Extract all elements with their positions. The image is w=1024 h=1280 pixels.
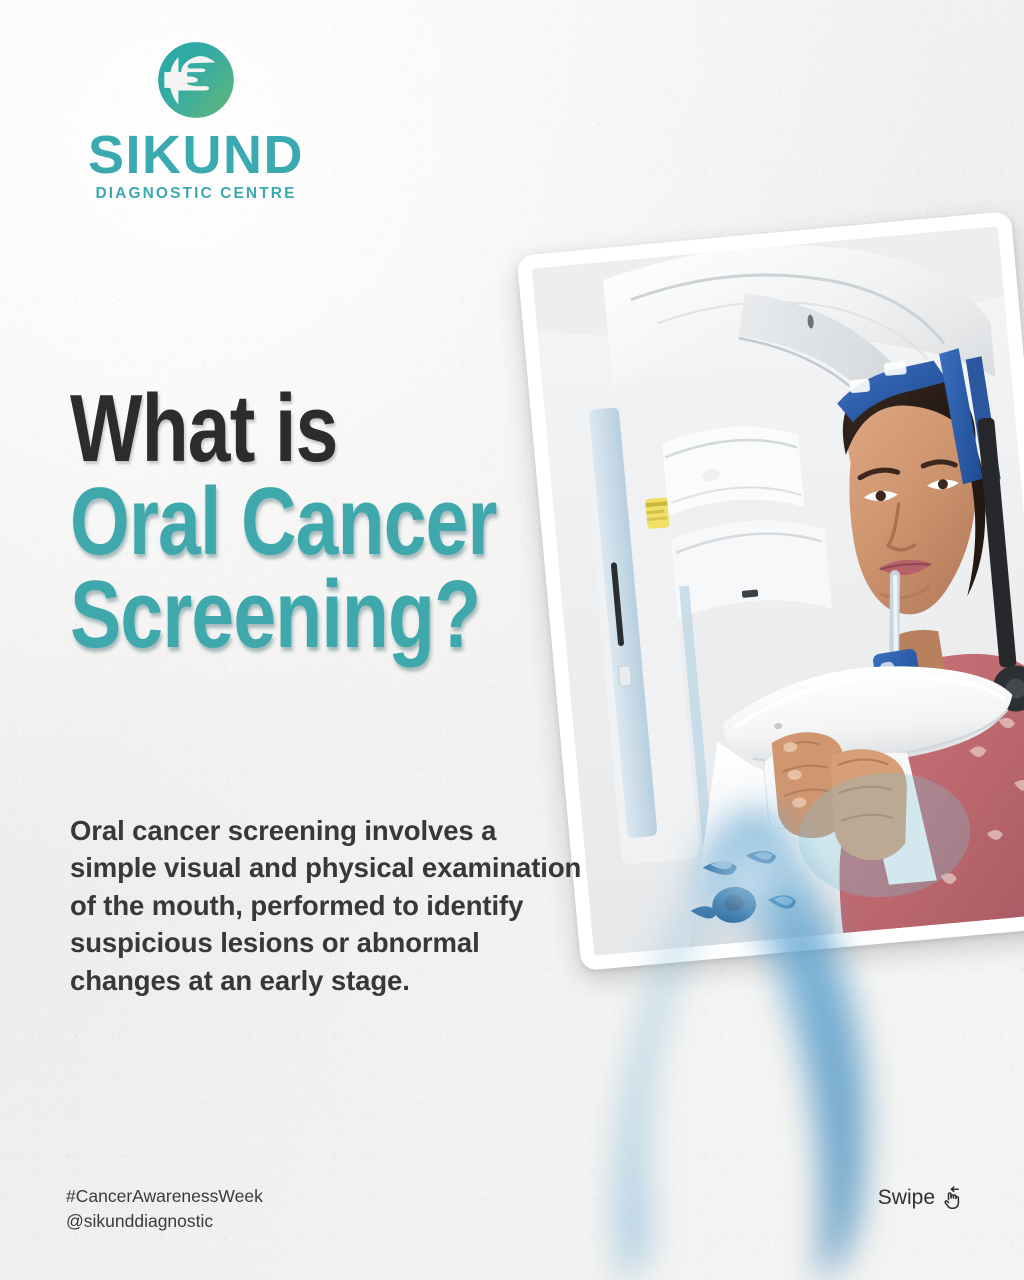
sikund-circle-s-logo-icon [152, 36, 240, 124]
xray-machine-photo [532, 226, 1024, 956]
photo-frame [532, 226, 1024, 956]
swipe-label: Swipe [878, 1186, 935, 1210]
body-paragraph: Oral cancer screening involves a simple … [70, 812, 590, 999]
page-title: What is Oral Cancer Screening? [70, 382, 570, 661]
headline-line-1: What is [70, 382, 470, 475]
handle-label: @sikunddiagnostic [66, 1209, 263, 1234]
brand-logo[interactable]: SIKUND DIAGNOSTIC CENTRE [66, 36, 326, 203]
poster-canvas: SIKUND DIAGNOSTIC CENTRE What is Oral Ca… [0, 0, 1024, 1280]
footer-social: #CancerAwarenessWeek @sikunddiagnostic [66, 1184, 263, 1235]
hashtag-label: #CancerAwarenessWeek [66, 1184, 263, 1209]
headline-line-3: Screening? [70, 568, 470, 661]
headline-line-2: Oral Cancer [70, 475, 470, 568]
photo-card [516, 211, 1024, 971]
swipe-indicator[interactable]: Swipe [878, 1185, 966, 1211]
swipe-left-hand-icon [942, 1185, 966, 1211]
brand-tagline: DIAGNOSTIC CENTRE [66, 185, 326, 203]
brand-wordmark: SIKUND [66, 130, 326, 181]
